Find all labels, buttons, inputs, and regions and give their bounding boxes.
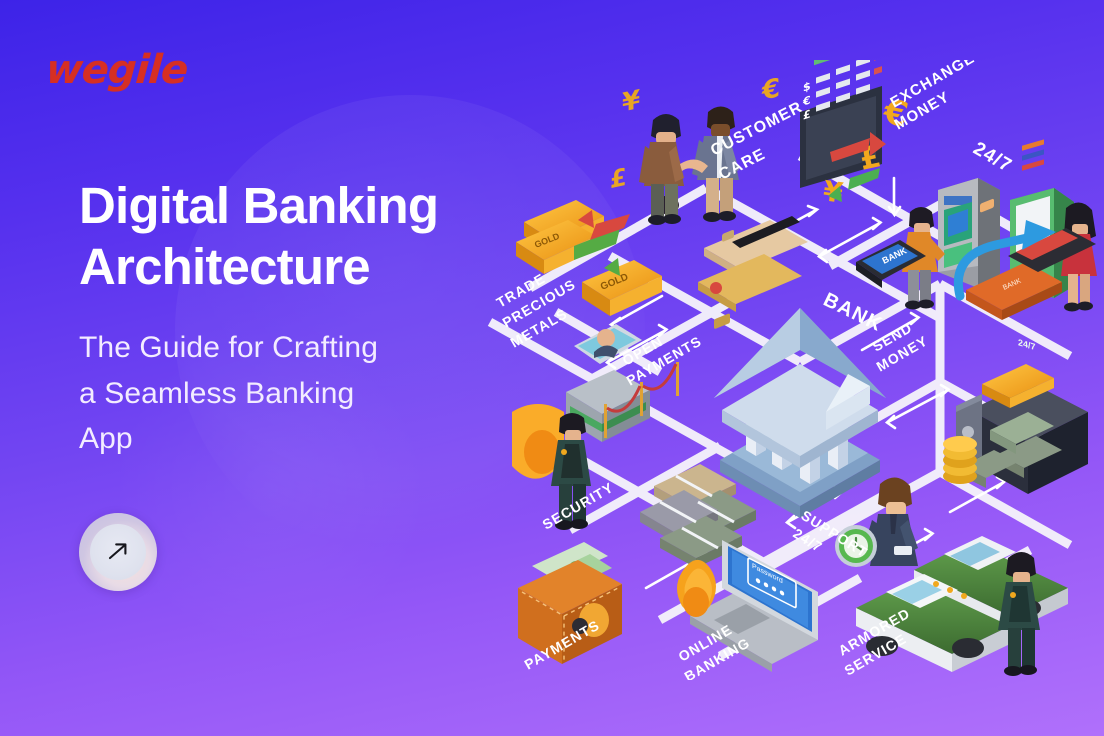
svg-text:£: £ — [803, 108, 811, 123]
bank-building-icon: $ — [714, 308, 886, 518]
safe-vault-icon — [943, 364, 1088, 494]
page-subtitle-line-1: The Guide for Crafting — [79, 325, 479, 371]
page-subtitle-line-3: App — [79, 416, 479, 462]
wegile-logo[interactable]: wegile — [45, 50, 189, 90]
currency-euro: € — [761, 73, 780, 107]
handshake-icon: ¥ $ € £ — [610, 60, 780, 225]
page-subtitle-line-2: a Seamless Banking — [79, 371, 479, 417]
page-title-line-1: Digital Banking — [79, 176, 509, 237]
coin-stack-icon — [943, 436, 977, 484]
arrow-up-right-icon — [103, 537, 133, 567]
label-24-7-top: 24/7 — [970, 138, 1016, 177]
svg-text:$: $ — [803, 80, 811, 95]
label-exchange-money: EXCHANGE MONEY — [888, 60, 978, 133]
label-trade-precious-metals: TRADE PRECIOUS METALS — [494, 270, 579, 351]
poster-canvas: wegile Digital Banking Architecture The … — [0, 0, 1104, 736]
page-subtitle: The Guide for Crafting a Seamless Bankin… — [79, 325, 479, 462]
page-title: Digital Banking Architecture — [79, 176, 509, 297]
page-title-line-2: Architecture — [79, 237, 509, 298]
banking-architecture-illustration: $ BANK — [470, 60, 1104, 680]
currency-yen: ¥ — [622, 85, 640, 119]
cta-button-inner — [90, 524, 146, 580]
svg-text:€: € — [802, 94, 811, 110]
currency-pound: £ — [610, 162, 627, 194]
arrow-exchange-down — [889, 178, 900, 215]
cta-button[interactable] — [79, 513, 157, 591]
